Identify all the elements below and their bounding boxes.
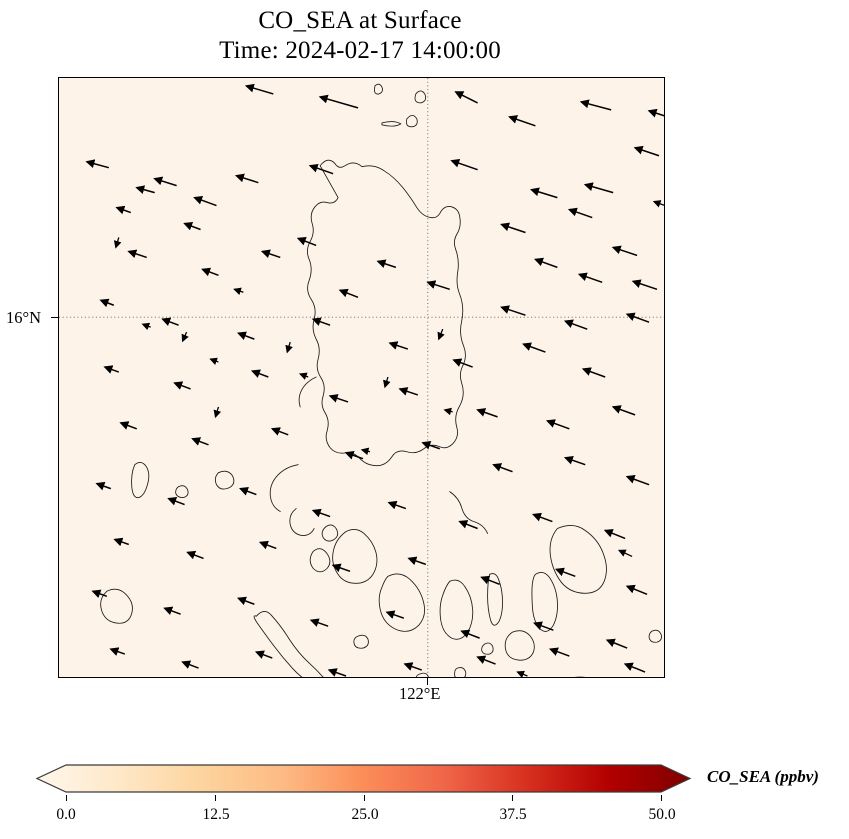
y-axis-tick-label: 16°N: [6, 308, 41, 328]
colorbar-tick-3: 37.5: [499, 806, 526, 824]
coastline-paths: [101, 84, 664, 677]
colorbar-label: CO_SEA (ppbv): [707, 767, 819, 787]
colorbar-tick-4: 50.0: [648, 806, 675, 824]
colorbar-tick-labels: 0.0 12.5 25.0 37.5 50.0: [0, 802, 849, 832]
colorbar-tickmark: [215, 795, 216, 801]
graticule-gridlines: [59, 78, 664, 677]
colorbar-tickmark: [512, 795, 513, 801]
colorbar-tickmark: [364, 795, 365, 801]
colorbar-tick-0: 0.0: [56, 806, 75, 824]
y-axis-tickmark: [51, 317, 58, 318]
colorbar[interactable]: 0.0 12.5 25.0 37.5 50.0 CO_SEA (ppbv): [0, 758, 849, 839]
map-canvas: [59, 78, 664, 677]
colorbar-tick-2: 25.0: [351, 806, 378, 824]
wind-vector-field: [87, 86, 664, 677]
x-axis-tick-label: 122°E: [399, 684, 440, 704]
map-plot-area[interactable]: [58, 77, 665, 678]
figure-timestamp: Time: 2024-02-17 14:00:00: [0, 36, 720, 66]
figure-title-block: CO_SEA at Surface Time: 2024-02-17 14:00…: [0, 6, 720, 65]
colorbar-tick-1: 12.5: [202, 806, 229, 824]
colorbar-tickmark: [661, 795, 662, 801]
page-title: CO_SEA at Surface: [0, 6, 720, 36]
colorbar-tickmark: [66, 795, 67, 801]
